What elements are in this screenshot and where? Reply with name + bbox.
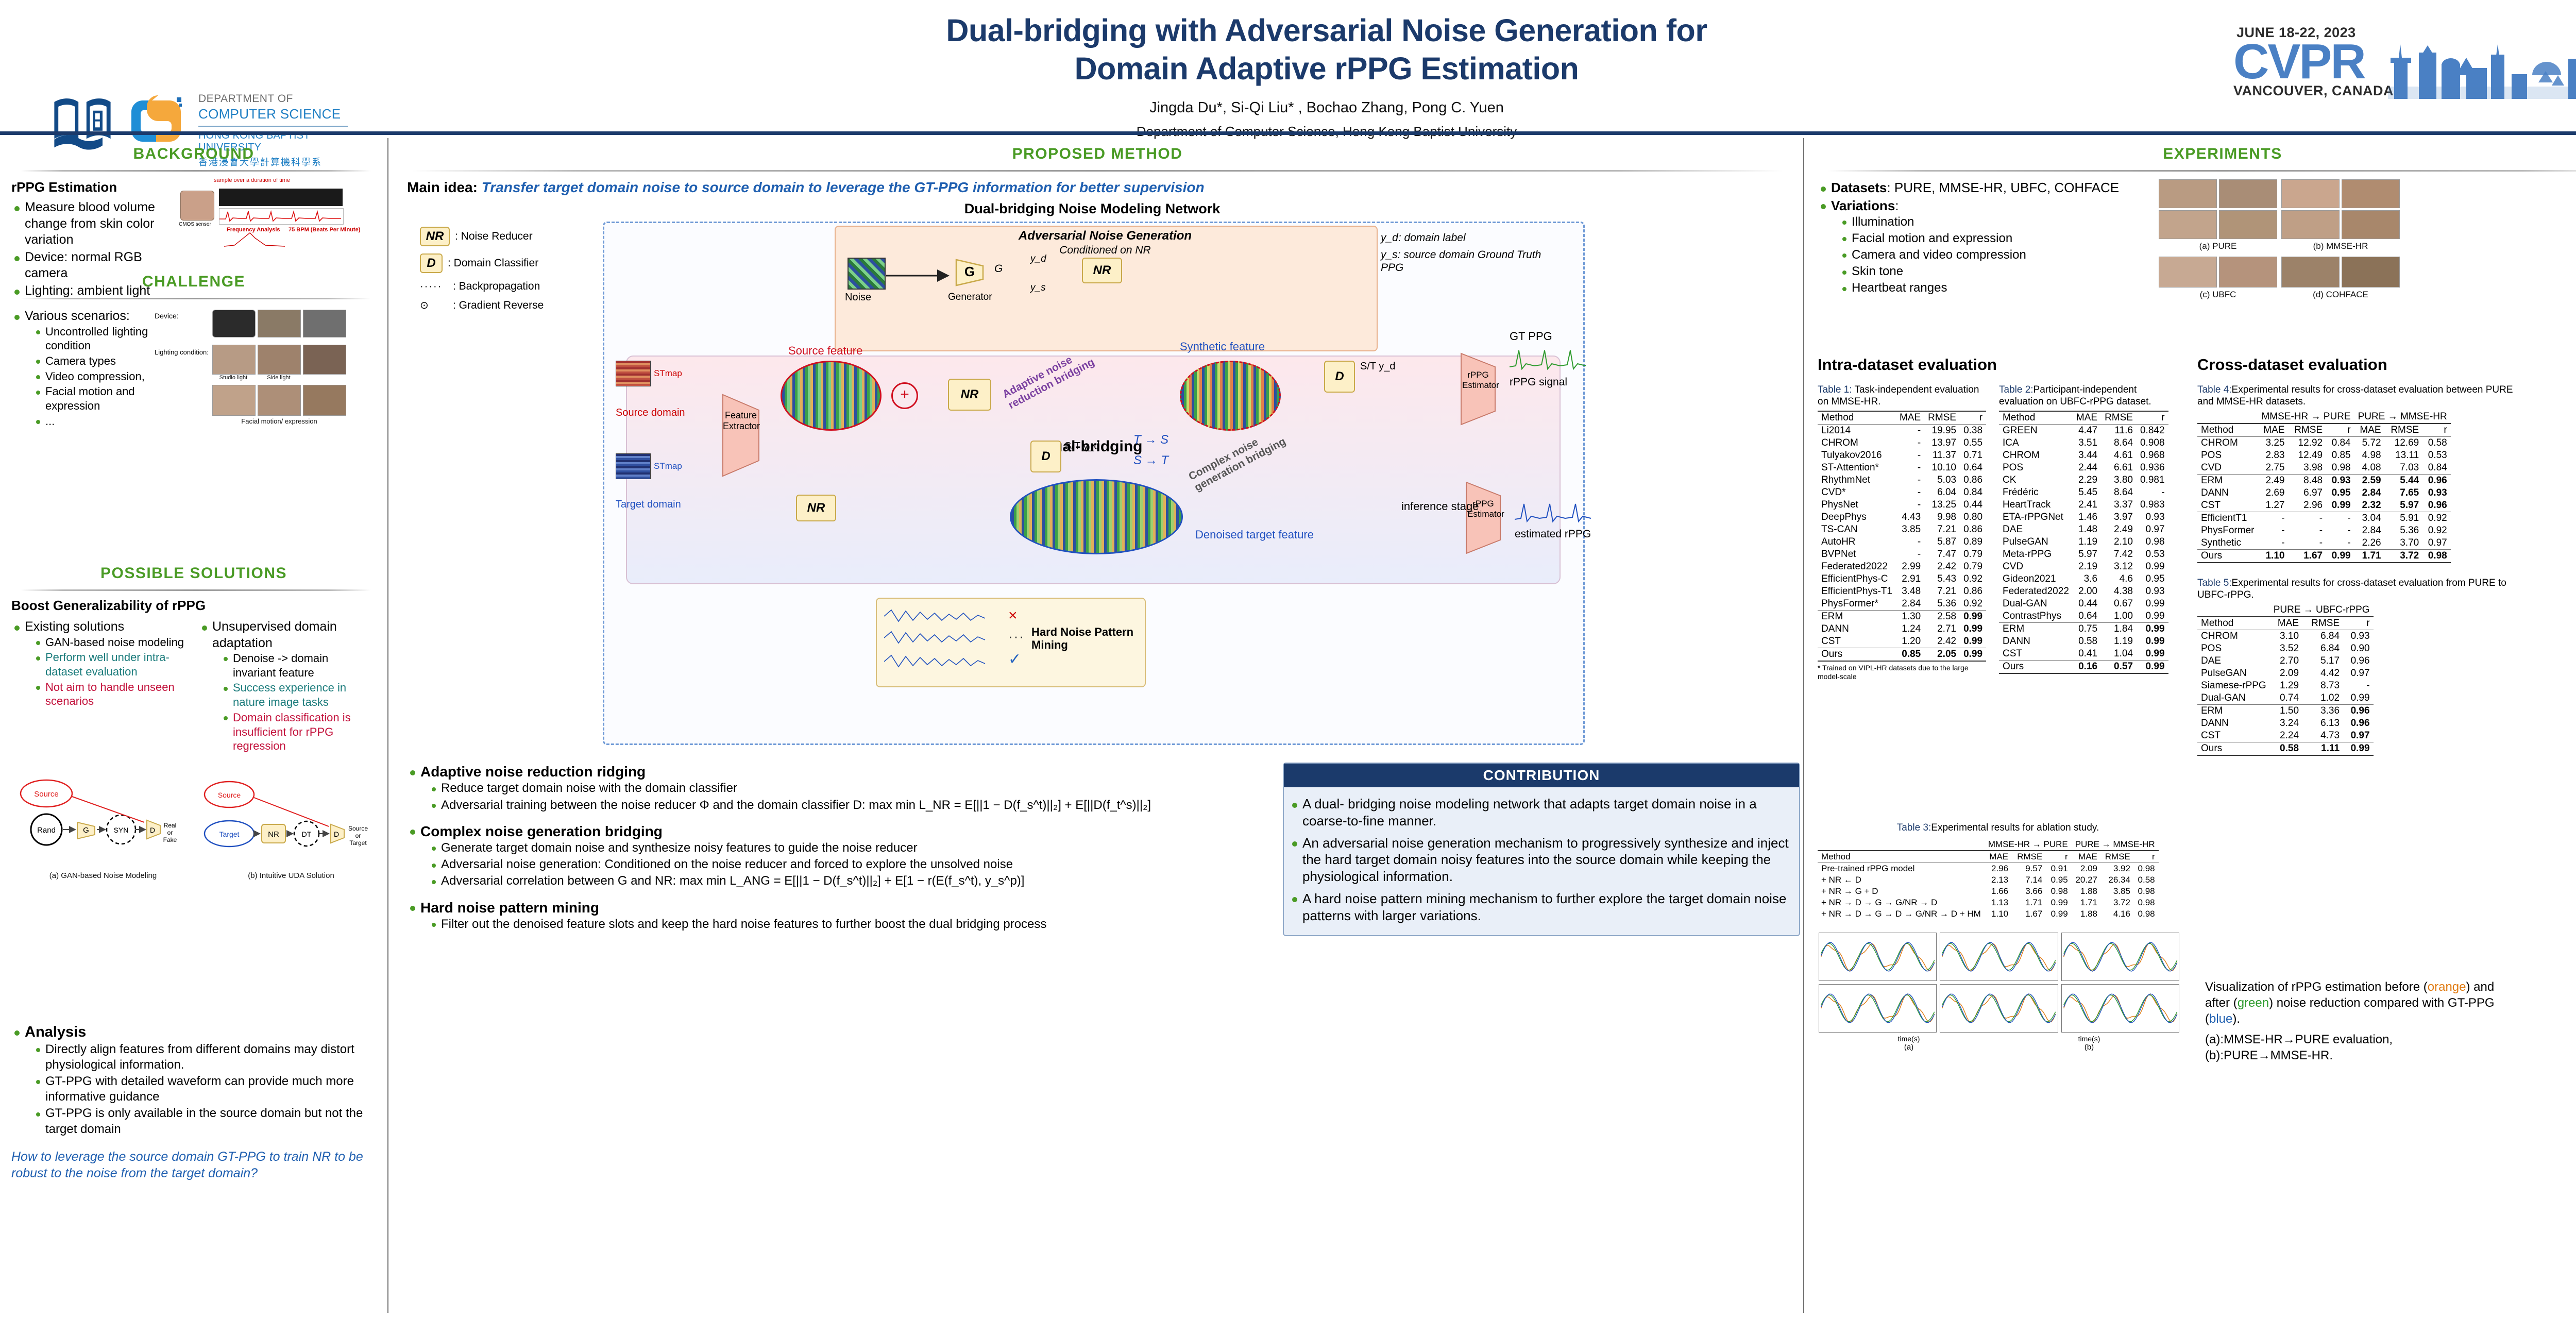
list-item: Generate target domain noise and synthes… — [430, 840, 1273, 856]
spectrum-icon — [224, 232, 286, 247]
table-cell: 0.53 — [2137, 548, 2168, 561]
table-row: + NR → D → G → D → G/NR → D + HM1.101.67… — [1818, 908, 2159, 920]
inference-stage-label: inference stage — [1401, 500, 1479, 513]
table-cell: 0.936 — [2137, 462, 2168, 474]
viz-text-4: ). — [2232, 1012, 2240, 1026]
table-cell: 5.97 — [2385, 499, 2423, 512]
table-cell: PhysFormer — [2197, 525, 2258, 537]
table-cell: 0.92 — [2422, 512, 2451, 525]
variations-label: Variations — [1831, 198, 1895, 213]
table-cell: 8.64 — [2101, 486, 2137, 499]
table-cell: 13.25 — [1924, 499, 1960, 511]
list-item: Analysis Directly align features from di… — [11, 1023, 377, 1137]
method-sub-list-1: Reduce target domain noise with the doma… — [420, 781, 1273, 813]
table-cell: HeartTrack — [1999, 499, 2073, 511]
table-cell: PhysNet — [1818, 499, 1896, 511]
experiments-separator — [1828, 170, 2576, 172]
table-cell: 0.98 — [2046, 886, 2071, 897]
table-cell: 0.58 — [2270, 742, 2302, 756]
svg-text:Target: Target — [219, 830, 240, 838]
ys-symbol: y_s — [1381, 249, 1398, 261]
table-cell: 0.92 — [2422, 525, 2451, 537]
stmap-source-label: STmap — [654, 368, 682, 379]
column-header: r — [2343, 617, 2374, 630]
generator-label: Generator — [948, 292, 992, 303]
list-item: Camera and video compression — [1840, 247, 2147, 263]
table-cell: 0.86 — [1960, 523, 1986, 536]
table-cell: 26.34 — [2101, 874, 2134, 886]
table-cell: 3.85 — [2101, 886, 2134, 897]
table-row: Synthetic---2.263.700.97 — [2197, 537, 2451, 550]
expression-thumb-1 — [212, 385, 256, 416]
lighting-thumb-2 — [258, 345, 301, 375]
table-cell: 0.84 — [2422, 462, 2451, 475]
list-item: Adversarial training between the noise r… — [430, 798, 1273, 813]
solutions-right-column: Unsupervised domain adaptation Denoise -… — [199, 619, 374, 754]
table-cell: 0.93 — [2326, 475, 2354, 487]
table1-number: Table 1: — [1818, 384, 1852, 395]
table-cell: 0.64 — [1960, 462, 1986, 474]
svg-text:NR: NR — [268, 830, 279, 839]
table-cell: 3.72 — [2385, 550, 2423, 563]
table-cell: 0.99 — [2326, 499, 2354, 512]
table-cell: 2.84 — [1896, 598, 1924, 611]
table5-caption: Table 5:Experimental results for cross-d… — [2197, 577, 2527, 601]
table-row: CVD*-6.040.84 — [1818, 486, 1986, 499]
viz-color-green: green — [2238, 996, 2269, 1010]
legend-d-icon: D — [420, 253, 443, 273]
table-cell: BVPNet — [1818, 548, 1896, 561]
viz-color-blue: blue — [2209, 1012, 2232, 1026]
method-sections: Adaptive noise reduction ridging Reduce … — [407, 763, 1273, 933]
list-item: Adversarial correlation between G and NR… — [430, 873, 1273, 889]
table-row: CHROM3.2512.920.845.7212.690.58 — [2197, 437, 2451, 450]
figure-label-sample: sample over a duration of time — [214, 177, 290, 183]
table-cell: 7.42 — [2101, 548, 2137, 561]
network-diagram-title: Dual-bridging Noise Modeling Network — [603, 201, 1582, 217]
table-cell: RhythmNet — [1818, 474, 1896, 486]
table-cell: TS-CAN — [1818, 523, 1896, 536]
section-header-proposed: PROPOSED METHOD — [392, 145, 1803, 163]
table2: MethodMAERMSErGREEN4.4711.60.842ICA3.518… — [1999, 411, 2168, 674]
estimated-rppg-label: estimated rPPG — [1515, 528, 1591, 540]
st-label-left: S/T y_d — [1064, 441, 1100, 452]
table-cell: 0.99 — [2137, 635, 2168, 648]
solutions-block: Boost Generalizability of rPPG Existing … — [11, 598, 377, 754]
table-cell: 0.44 — [2073, 598, 2101, 610]
poster-title-block: Dual-bridging with Adversarial Noise Gen… — [567, 11, 2087, 140]
visualization-description: Visualization of rPPG estimation before … — [2205, 979, 2514, 1063]
yd-label-top: y_d — [1030, 253, 1046, 265]
table-cell: 0.58 — [2073, 635, 2101, 648]
nr-node-top: NR — [1082, 258, 1122, 283]
table-cell: Dual-GAN — [1999, 598, 2073, 610]
table-row: DAE2.705.170.96 — [2197, 655, 2374, 667]
table-cell: PhysFormer* — [1818, 598, 1896, 611]
table-cell: 0.99 — [1960, 611, 1986, 623]
table-cell: 2.70 — [2270, 655, 2302, 667]
table-cell: 2.10 — [2101, 536, 2137, 548]
table-cell: 2.49 — [2101, 523, 2137, 536]
list-item: Datasets: PURE, MMSE-HR, UBFC, COHFACE — [1818, 179, 2147, 196]
table-cell: 4.16 — [2101, 908, 2134, 920]
rppg-estimator-label-top: rPPG Estimator — [1462, 370, 1494, 390]
group-header: PURE → MMSE-HR — [2354, 411, 2451, 424]
table-row: PhysFormer---2.845.360.92 — [2197, 525, 2451, 537]
table-row: GREEN4.4711.60.842 — [1999, 425, 2168, 437]
stmap-source-thumb — [616, 361, 651, 386]
table-cell: - — [2326, 512, 2354, 525]
table-cell: Gideon2021 — [1999, 573, 2073, 585]
table-cell: 0.67 — [2101, 598, 2137, 610]
table-cell: 0.80 — [1960, 511, 1986, 523]
table-cell: 0.97 — [2343, 667, 2374, 680]
table-cell: 3.70 — [2385, 537, 2423, 550]
table-cell: 6.84 — [2302, 630, 2343, 643]
accept-mark-icon: ✓ — [1008, 650, 1021, 668]
column-header: RMSE — [2101, 851, 2134, 863]
list-item: GAN-based noise modeling — [34, 635, 192, 650]
table-cell: 7.14 — [2012, 874, 2046, 886]
table-cell: - — [2326, 525, 2354, 537]
table-cell: CST — [2197, 499, 2258, 512]
rppg-signal-label: rPPG signal — [1510, 376, 1567, 388]
table-cell: 4.42 — [2302, 667, 2343, 680]
table-cell: 0.96 — [2422, 475, 2451, 487]
list-item: Uncontrolled lighting condition — [34, 325, 166, 353]
sample-thumb — [2342, 210, 2400, 239]
table-cell: 1.71 — [2072, 897, 2101, 908]
table-cell: 12.69 — [2385, 437, 2423, 450]
legend-d-desc: : Domain Classifier — [448, 257, 538, 269]
table-cell: 0.99 — [2343, 692, 2374, 705]
table-cell: Synthetic — [2197, 537, 2258, 550]
rppg-estimator-bottom: rPPG Estimator — [1463, 479, 1504, 556]
table-cell: 3.36 — [2302, 705, 2343, 718]
table-cell: - — [2288, 512, 2326, 525]
table-cell: 2.49 — [2258, 475, 2288, 487]
table-row: ERM0.751.840.99 — [1999, 623, 2168, 636]
list-item: A dual- bridging noise modeling network … — [1289, 796, 1790, 830]
table-cell: 0.92 — [1960, 598, 1986, 611]
table-cell: 0.96 — [2343, 717, 2374, 730]
table-cell: 1.84 — [2101, 623, 2137, 636]
table5-number: Table 5: — [2197, 578, 2232, 588]
table-cell: Ours — [1999, 661, 2073, 674]
column-header: MAE — [2072, 851, 2101, 863]
table-row: Li2014-19.950.38 — [1818, 425, 1986, 437]
viz-plot-svg — [1940, 985, 2057, 1032]
table-cell: 2.99 — [1896, 561, 1924, 573]
table-cell: PulseGAN — [2197, 667, 2270, 680]
table-cell: - — [1896, 474, 1924, 486]
list-item: Denoise -> domain invariant feature — [222, 651, 374, 680]
yd-definition: y_d: domain label — [1381, 232, 1466, 244]
table-cell: 2.29 — [2073, 474, 2101, 486]
column-header: Method — [2197, 617, 2270, 630]
table-cell: 0.93 — [2137, 585, 2168, 598]
table-cell: 1.11 — [2302, 742, 2343, 756]
table-cell: 4.61 — [2101, 449, 2137, 462]
table-cell: Federated2022 — [1999, 585, 2073, 598]
table-cell: 1.19 — [2101, 635, 2137, 648]
dataset-caption-a: (a) PURE — [2159, 241, 2277, 251]
table-cell: 7.21 — [1924, 523, 1960, 536]
column-header: Method — [1818, 411, 1896, 425]
column-header: RMSE — [2385, 424, 2423, 437]
list-item: Variations: Illumination Facial motion a… — [1818, 197, 2147, 296]
table-cell: 2.59 — [2354, 475, 2385, 487]
table3-caption: Table 3:Experimental results for ablatio… — [1818, 822, 2178, 834]
table-cell: 0.98 — [2326, 462, 2354, 475]
existing-solutions-sub: GAN-based noise modeling Perform well un… — [25, 635, 192, 709]
table-cell: 6.13 — [2302, 717, 2343, 730]
svg-text:or: or — [355, 832, 361, 839]
list-item: GT-PPG with detailed waveform can provid… — [34, 1074, 377, 1105]
table-cell: 7.47 — [1924, 548, 1960, 561]
table-cell: CHROM — [2197, 630, 2270, 643]
column-header: r — [2326, 424, 2354, 437]
table-row: Federated20222.992.420.79 — [1818, 561, 1986, 573]
table-row: CHROM3.106.840.93 — [2197, 630, 2374, 643]
table-cell: CHROM — [1999, 449, 2073, 462]
table-cell: 4.47 — [2073, 425, 2101, 437]
table-cell: 2.83 — [2258, 449, 2288, 462]
signal-strip-light — [219, 208, 344, 225]
table-cell: POS — [2197, 642, 2270, 655]
table-cell: 2.09 — [2072, 863, 2101, 875]
feature-extractor-node: Feature Extractor — [719, 392, 763, 479]
list-item: Camera types — [34, 354, 166, 368]
table-cell: 2.24 — [2270, 730, 2302, 742]
vancouver-skyline-icon — [2388, 37, 2576, 99]
table-cell: 1.00 — [2101, 610, 2137, 623]
table-cell: 12.49 — [2288, 449, 2326, 462]
table-cell: 0.99 — [1960, 648, 1986, 662]
table-cell: ICA — [1999, 437, 2073, 449]
column-header: r — [2137, 411, 2168, 425]
table-cell: 0.79 — [1960, 561, 1986, 573]
dataset-sample-cohface: (d) COHFACE — [2281, 257, 2400, 300]
table-cell: ETA-rPPGNet — [1999, 511, 2073, 523]
list-item: Illumination — [1840, 214, 2147, 230]
viz-plot — [1819, 933, 1937, 981]
table-cell: 2.75 — [2258, 462, 2288, 475]
table-cell: 2.91 — [1896, 573, 1924, 585]
table-row: Dual-GAN0.741.020.99 — [2197, 692, 2374, 705]
svg-text:Target: Target — [349, 839, 367, 847]
nr-node-bottom: NR — [796, 495, 836, 521]
table-cell: 3.51 — [2073, 437, 2101, 449]
list-item: Video compression, — [34, 369, 166, 384]
legend-nr-desc: : Noise Reducer — [455, 230, 533, 243]
lighting-thumb-1 — [212, 345, 256, 375]
uda-diagram-svg: Source Target NR DT D Source or Target — [201, 773, 381, 871]
table-cell: 3.72 — [2101, 897, 2134, 908]
cs-department-logo-icon — [126, 94, 188, 151]
table4-caption-text: Experimental results for cross-dataset e… — [2197, 384, 2513, 407]
noise-patch-icon — [848, 258, 886, 290]
table-row: DANN1.242.710.99 — [1818, 623, 1986, 635]
viz-subcaption-a: (a) — [1904, 1043, 1913, 1052]
poster-root: DEPARTMENT OF COMPUTER SCIENCE HONG KONG… — [0, 0, 2576, 1319]
table-cell: 0.96 — [2343, 655, 2374, 667]
table-cell: + NR ← D — [1818, 874, 1985, 886]
yd-desc: : domain label — [1398, 232, 1466, 244]
diagram-legend: NR : Noise Reducer D : Domain Classifier… — [420, 227, 569, 312]
method-section-title-2: Complex noise generation bridging — [420, 823, 663, 839]
svg-text:Source: Source — [34, 790, 59, 799]
sample-thumb — [2219, 179, 2277, 208]
uda-title: Unsupervised domain adaptation — [212, 619, 337, 650]
table-row: CVD2.193.120.99 — [1999, 561, 2168, 573]
list-item: Heartbeat ranges — [1840, 280, 2147, 296]
viz-subcaption-b: (b) — [2084, 1043, 2094, 1052]
table-cell: 0.44 — [1960, 499, 1986, 511]
contribution-list: A dual- bridging noise modeling network … — [1284, 787, 1799, 935]
column-header: MAE — [2258, 424, 2288, 437]
table-cell: Federated2022 — [1818, 561, 1896, 573]
table-cell: - — [1896, 499, 1924, 511]
table-cell: 3.85 — [1896, 523, 1924, 536]
generator-icon: G — [953, 256, 987, 290]
viz-line-a: (a):MMSE-HR→PURE evaluation, — [2205, 1031, 2514, 1047]
table-row: DANN0.581.190.99 — [1999, 635, 2168, 648]
table-cell: 1.10 — [1985, 908, 2012, 920]
uda-solutions-list: Unsupervised domain adaptation Denoise -… — [199, 619, 374, 753]
table4-caption: Table 4:Experimental results for cross-d… — [2197, 384, 2527, 408]
table-cell: 0.64 — [2073, 610, 2101, 623]
table-row: DeepPhys4.439.980.80 — [1818, 511, 1986, 523]
viz-line-b: (b):PURE→MMSE-HR. — [2205, 1047, 2514, 1063]
table-row: Pre-trained rPPG model2.969.570.912.093.… — [1818, 863, 2159, 875]
list-item: Perform well under intra-dataset evaluat… — [34, 650, 192, 679]
viz-plot-svg — [1819, 985, 1936, 1032]
datasets-label: Datasets — [1831, 180, 1887, 195]
column-header: MAE — [2073, 411, 2101, 425]
sample-thumb — [2159, 179, 2217, 208]
table-cell: 6.04 — [1924, 486, 1960, 499]
table-cell: 5.87 — [1924, 536, 1960, 548]
column-header: RMSE — [2012, 851, 2046, 863]
table-cell: 10.10 — [1924, 462, 1960, 474]
table-row: Federated20222.004.380.93 — [1999, 585, 2168, 598]
column-header: MAE — [2354, 424, 2385, 437]
table-cell: 2.69 — [2258, 487, 2288, 499]
table-cell: 5.36 — [1924, 598, 1960, 611]
table-cell: 0.84 — [2326, 437, 2354, 450]
column-header: RMSE — [2101, 411, 2137, 425]
table-cell: CHROM — [2197, 437, 2258, 450]
group-header: MMSE-HR → PURE — [2258, 411, 2354, 424]
viz-plot — [2061, 933, 2179, 981]
table-cell: Siamese-rPPG — [2197, 680, 2270, 692]
method-bullet-list: Adaptive noise reduction ridging Reduce … — [407, 763, 1273, 932]
poster-header: DEPARTMENT OF COMPUTER SCIENCE HONG KONG… — [0, 0, 2576, 131]
table-row: PhysNet-13.250.44 — [1818, 499, 1986, 511]
table1: MethodMAERMSErLi2014-19.950.38CHROM-13.9… — [1818, 411, 1986, 662]
list-item: Success experience in nature image tasks — [222, 681, 374, 709]
table-row: POS3.526.840.90 — [2197, 642, 2374, 655]
table-cell: 0.908 — [2137, 437, 2168, 449]
table4-block: Table 4:Experimental results for cross-d… — [2197, 384, 2527, 563]
table-cell: CST — [2197, 730, 2270, 742]
table3-caption-text: Experimental results for ablation study. — [1931, 822, 2099, 833]
table-row: PhysFormer*2.845.360.92 — [1818, 598, 1986, 611]
adv-region-subtitle: Conditioned on NR — [835, 244, 1376, 257]
s-to-t-label: S → T — [1133, 453, 1168, 468]
table-cell: - — [1896, 437, 1924, 449]
table-cell: 0.86 — [1960, 585, 1986, 598]
uda-diagram-caption: (b) Intuitive UDA Solution — [201, 871, 381, 880]
solutions-separator — [21, 589, 371, 591]
column-header: RMSE — [2288, 424, 2326, 437]
table-cell: 11.6 — [2101, 425, 2137, 437]
table-cell: 0.99 — [2137, 598, 2168, 610]
column-header: r — [2422, 424, 2451, 437]
table-cell: 0.99 — [2137, 610, 2168, 623]
table-cell: 5.36 — [2385, 525, 2423, 537]
table-cell: 0.99 — [2137, 661, 2168, 674]
table-cell: 0.983 — [2137, 499, 2168, 511]
table-row: ST-Attention*-10.100.64 — [1818, 462, 1986, 474]
camera-thumb-2 — [258, 310, 301, 337]
table-cell: DANN — [1818, 623, 1896, 635]
group-spacer — [2197, 604, 2270, 617]
table-cell: 2.42 — [1924, 561, 1960, 573]
table-cell: 2.05 — [1924, 648, 1960, 662]
source-feature-label: Source feature — [788, 344, 862, 358]
table-cell: 0.93 — [2343, 630, 2374, 643]
table-cell: 4.43 — [1896, 511, 1924, 523]
table-cell: 0.97 — [2137, 523, 2168, 536]
dataset-sample-pure: (a) PURE — [2159, 179, 2277, 251]
poster-title-line-2: Domain Adaptive rPPG Estimation — [567, 49, 2087, 88]
svg-text:Source: Source — [348, 825, 368, 832]
analysis-title: Analysis — [25, 1024, 86, 1040]
table-cell: 0.91 — [2046, 863, 2071, 875]
list-item: Filter out the denoised feature slots an… — [430, 917, 1273, 932]
table-cell: 2.26 — [2354, 537, 2385, 550]
table-cell: 0.96 — [2343, 705, 2374, 718]
table-header-row: MethodMAERMSEr — [2197, 617, 2374, 630]
method-sub-list-2: Generate target domain noise and synthes… — [420, 840, 1273, 889]
table-row: Meta-rPPG5.977.420.53 — [1999, 548, 2168, 561]
table-cell: - — [1896, 536, 1924, 548]
table-cell: EfficientPhys-T1 — [1818, 585, 1896, 598]
table-cell: 2.00 — [2073, 585, 2101, 598]
table-cell: DANN — [2197, 487, 2258, 499]
ys-label-top: y_s — [1030, 282, 1046, 294]
table-cell: 1.13 — [1985, 897, 2012, 908]
table-cell: - — [1896, 425, 1924, 437]
main-idea-line: Main idea: Transfer target domain noise … — [407, 179, 1798, 196]
sample-thumb — [2219, 257, 2277, 288]
visualization-grid: time(s) time(s) (a) (b) — [1819, 933, 2179, 1052]
sample-thumb — [2342, 179, 2400, 208]
table-cell: POS — [1999, 462, 2073, 474]
analysis-list: Analysis Directly align features from di… — [11, 1023, 377, 1137]
table-cell: 0.98 — [2134, 897, 2159, 908]
expression-thumb-2 — [258, 385, 301, 416]
table-cell: Meta-rPPG — [1999, 548, 2073, 561]
table-cell: 3.48 — [1896, 585, 1924, 598]
table-cell: 4.08 — [2354, 462, 2385, 475]
list-item: Various scenarios: Uncontrolled lighting… — [11, 308, 166, 429]
table-cell: - — [2326, 537, 2354, 550]
table-cell: 0.97 — [2343, 730, 2374, 742]
table1-footnote: * Trained on VIPL-HR datasets due to the… — [1818, 664, 1988, 681]
